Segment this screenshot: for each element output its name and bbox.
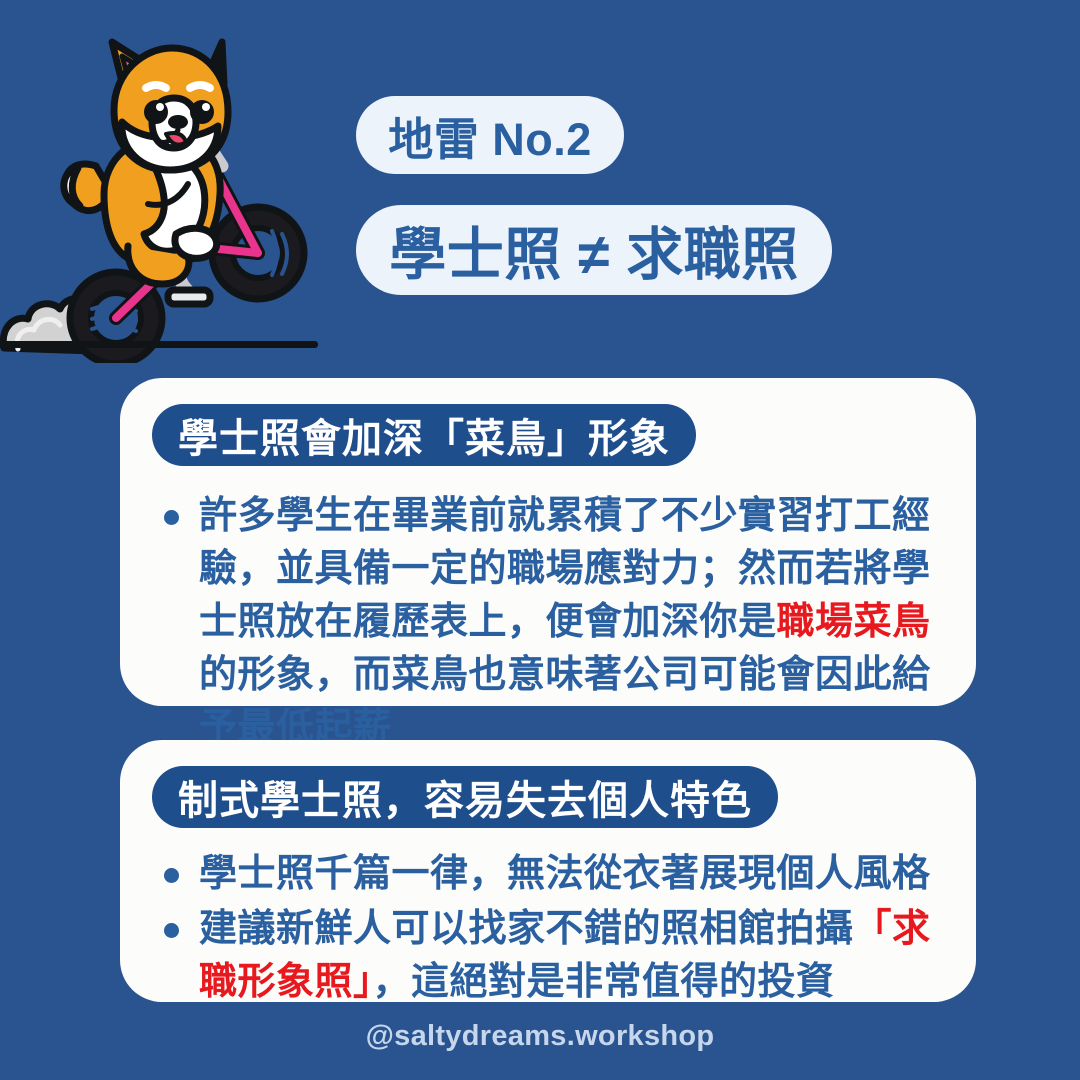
card-1-bullet-list: 許多學生在畢業前就累積了不少實習打工經驗，並具備一定的職場應對力；然而若將學士照… xyxy=(164,490,946,757)
content-card-1: 學士照會加深「菜鳥」形象 許多學生在畢業前就累積了不少實習打工經驗，並具備一定的… xyxy=(120,378,976,706)
list-item-text: 學士照千篇一律，無法從衣著展現個人風格 xyxy=(199,848,946,901)
ground-line xyxy=(0,341,318,348)
bullet-dot-icon xyxy=(164,923,179,938)
card-1-heading: 學士照會加深「菜鳥」形象 xyxy=(152,404,696,466)
list-item: 學士照千篇一律，無法從衣著展現個人風格 xyxy=(164,848,946,901)
card-2-bullet-list: 學士照千篇一律，無法從衣著展現個人風格 建議新鮮人可以找家不錯的照相館拍攝「求職… xyxy=(164,848,946,1011)
bullet-dot-icon xyxy=(164,510,179,525)
content-card-2: 制式學士照，容易失去個人特色 學士照千篇一律，無法從衣著展現個人風格 建議新鮮人… xyxy=(120,740,976,1002)
list-item-text: 許多學生在畢業前就累積了不少實習打工經驗，並具備一定的職場應對力；然而若將學士照… xyxy=(199,490,946,755)
dog-head-icon xyxy=(112,42,228,170)
poster-canvas: 地雷 No.2 學士照 ≠ 求職照 學士照會加深「菜鳥」形象 許多學生在畢業前就… xyxy=(0,0,1080,1080)
title-pill-number: 地雷 No.2 xyxy=(356,96,624,174)
title-pill-main: 學士照 ≠ 求職照 xyxy=(356,205,832,295)
shiba-inu-on-bmx-bike-illustration xyxy=(0,18,330,363)
list-item: 建議新鮮人可以找家不錯的照相館拍攝「求職形象照」，這絕對是非常值得的投資 xyxy=(164,903,946,1009)
bullet-dot-icon xyxy=(164,868,179,883)
list-item: 許多學生在畢業前就累積了不少實習打工經驗，並具備一定的職場應對力；然而若將學士照… xyxy=(164,490,946,755)
card-2-heading: 制式學士照，容易失去個人特色 xyxy=(152,766,778,828)
list-item-text: 建議新鮮人可以找家不錯的照相館拍攝「求職形象照」，這絕對是非常值得的投資 xyxy=(199,903,946,1009)
account-handle: @saltydreams.workshop xyxy=(0,1020,1080,1053)
dog-paw-icon xyxy=(175,228,217,258)
